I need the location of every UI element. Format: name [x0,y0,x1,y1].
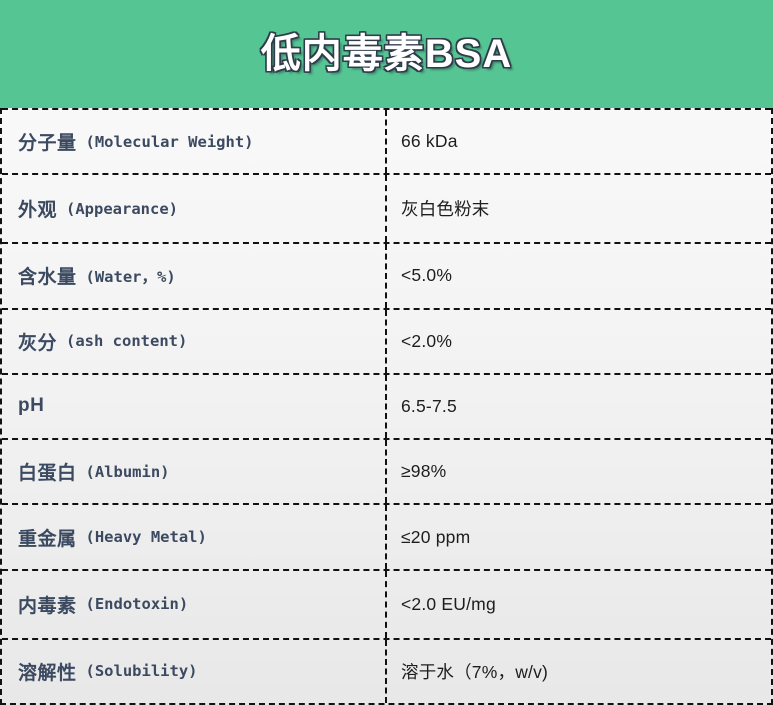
spec-label-cell: pH [2,375,387,438]
spec-label-cn: 含水量 [18,262,77,289]
product-spec-card: 低内毒素BSA 分子量 (Molecular Weight) 66 kDa 外观… [0,0,773,705]
card-header-banner: 低内毒素BSA [0,0,773,108]
page-title: 低内毒素BSA [261,34,512,74]
spec-label-cn: 灰分 [18,328,57,355]
spec-label-cell: 白蛋白 (Albumin) [2,440,387,503]
spec-value: <5.0% [401,265,452,286]
spec-label-cell: 重金属 (Heavy Metal) [2,505,387,568]
spec-value-cell: ≤20 ppm [387,505,771,568]
spec-label-cn: 重金属 [18,524,77,551]
table-row: 重金属 (Heavy Metal) ≤20 ppm [2,503,771,568]
spec-value: 溶于水（7%，w/v) [401,659,548,684]
table-row: 外观 (Appearance) 灰白色粉末 [2,173,771,242]
spec-label-cn: 内毒素 [18,591,77,618]
spec-label-en: (Endotoxin) [86,595,189,613]
spec-label-en: (Heavy Metal) [86,528,207,546]
spec-label-cell: 溶解性 (Solubility) [2,640,387,703]
spec-label-cell: 分子量 (Molecular Weight) [2,110,387,173]
spec-label-cn: pH [18,395,44,417]
spec-label-en: (Appearance) [66,200,178,218]
spec-label-en: (Molecular Weight) [86,133,254,151]
spec-label-cell: 灰分 (ash content) [2,310,387,373]
spec-value-cell: <2.0 EU/mg [387,571,771,638]
spec-value-cell: 6.5-7.5 [387,375,771,438]
spec-value-cell: <5.0% [387,244,771,307]
table-row: pH 6.5-7.5 [2,373,771,438]
table-row: 白蛋白 (Albumin) ≥98% [2,438,771,503]
spec-value-cell: 66 kDa [387,110,771,173]
spec-value: <2.0 EU/mg [401,594,496,615]
table-row: 灰分 (ash content) <2.0% [2,308,771,373]
specification-table: 分子量 (Molecular Weight) 66 kDa 外观 (Appear… [0,108,773,705]
spec-value: 灰白色粉末 [401,196,490,221]
spec-value-cell: <2.0% [387,310,771,373]
spec-label-cn: 外观 [18,195,57,222]
spec-label-en: (Albumin) [86,463,170,481]
spec-label-cn: 分子量 [18,128,77,155]
table-row: 内毒素 (Endotoxin) <2.0 EU/mg [2,569,771,638]
spec-label-en: (ash content) [66,332,187,350]
spec-label-cell: 内毒素 (Endotoxin) [2,571,387,638]
spec-value: ≥98% [401,461,446,482]
table-row: 含水量 (Water，%) <5.0% [2,242,771,307]
spec-label-en: (Water，%) [86,265,176,287]
spec-label-cn: 白蛋白 [18,458,77,485]
spec-value-cell: ≥98% [387,440,771,503]
spec-value: 66 kDa [401,131,458,152]
spec-label-cell: 含水量 (Water，%) [2,244,387,307]
spec-label-cell: 外观 (Appearance) [2,175,387,242]
spec-value-cell: 灰白色粉末 [387,175,771,242]
spec-value: 6.5-7.5 [401,396,457,417]
spec-label-cn: 溶解性 [18,658,77,685]
table-row: 溶解性 (Solubility) 溶于水（7%，w/v) [2,638,771,703]
spec-label-en: (Solubility) [86,662,198,680]
spec-value: ≤20 ppm [401,527,470,548]
spec-value-cell: 溶于水（7%，w/v) [387,640,771,703]
spec-value: <2.0% [401,331,452,352]
table-row: 分子量 (Molecular Weight) 66 kDa [2,108,771,173]
